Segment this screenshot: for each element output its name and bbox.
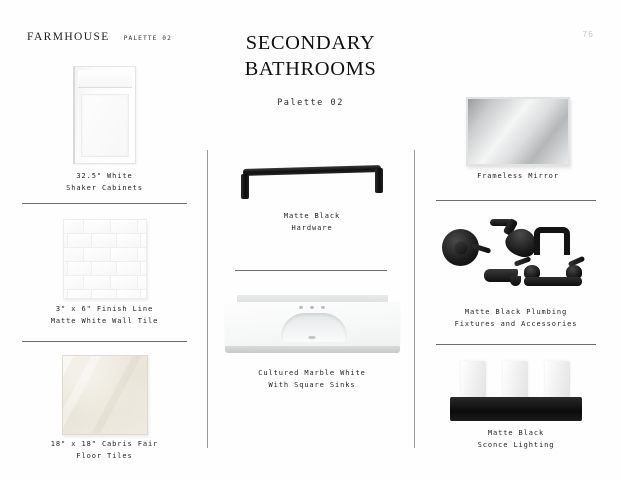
sconce-mounting-bar	[450, 397, 582, 421]
cabinet-drawer	[78, 70, 132, 88]
palette-board: FARMHOUSE PALETTE 02 76 SECONDARY BATHRO…	[0, 0, 621, 480]
wall-tile-swatch	[63, 215, 147, 303]
frameless-mirror-icon	[466, 97, 570, 166]
item-caption: Matte Black Plumbing Fixtures and Access…	[455, 306, 578, 331]
item-matte-white-wall-tile[interactable]: 3" x 6" Finish Line Matte White Wall Til…	[22, 215, 187, 328]
item-caption: Frameless Mirror	[477, 170, 559, 182]
brand-name: FARMHOUSE	[27, 31, 110, 43]
vanity-edge	[225, 346, 400, 353]
vanity-drain	[309, 336, 316, 339]
pull-post-right	[375, 168, 383, 193]
tub-spout-icon	[484, 269, 518, 282]
plumbing-fixtures-icon	[436, 209, 596, 305]
title-line-1: SECONDARY	[191, 31, 431, 57]
item-matte-black-hardware[interactable]: Matte Black Hardware	[222, 152, 402, 235]
faucet-holes	[299, 306, 325, 309]
faucet-base	[524, 277, 582, 286]
item-frameless-mirror[interactable]: Frameless Mirror	[438, 92, 598, 182]
page-title: SECONDARY BATHROOMS Palette 02	[191, 31, 431, 108]
pull-post-left	[241, 174, 249, 199]
pull-bar	[243, 165, 381, 176]
item-caption: 3" x 6" Finish Line Matte White Wall Til…	[51, 303, 158, 328]
cabinet-swatch	[73, 60, 136, 170]
item-cultured-marble-vanity[interactable]: Cultured Marble White With Square Sinks	[222, 285, 402, 392]
floor-tile-swatch	[62, 352, 148, 438]
item-caption: Matte Black Hardware	[284, 210, 340, 235]
item-caption: 18" x 18" Cabris Fair Floor Tiles	[51, 438, 158, 463]
divider-left-2	[22, 341, 187, 342]
divider-right-2	[436, 344, 596, 345]
page-number: 76	[582, 30, 594, 39]
divider-left-1	[22, 203, 187, 204]
item-caption: Matte Black Sconce Lighting	[478, 427, 555, 452]
palette-subtitle: Palette 02	[191, 98, 431, 108]
mirror-swatch	[466, 92, 570, 170]
item-caption: 32.5" White Shaker Cabinets	[66, 170, 143, 195]
column-divider-right	[414, 150, 415, 448]
sconce-swatch	[446, 355, 586, 427]
cabinet-door	[81, 94, 129, 157]
floor-tile-icon	[62, 355, 148, 435]
sconce-shade-2	[503, 361, 528, 401]
subway-tile-icon	[63, 219, 147, 299]
brand-header: FARMHOUSE PALETTE 02	[27, 31, 172, 43]
hardware-swatch	[237, 152, 387, 210]
divider-right-1	[436, 200, 596, 201]
brand-palette-tag: PALETTE 02	[124, 35, 172, 42]
sconce-shade-3	[545, 361, 570, 401]
plumbing-swatch	[436, 208, 596, 306]
shaker-cabinet-icon	[73, 66, 136, 164]
item-white-shaker-cabinets[interactable]: 32.5" White Shaker Cabinets	[22, 60, 187, 195]
item-matte-black-plumbing[interactable]: Matte Black Plumbing Fixtures and Access…	[436, 208, 596, 331]
faucet-spout-icon	[534, 227, 570, 255]
title-line-2: BATHROOMS	[191, 57, 431, 83]
divider-center-1	[235, 270, 387, 271]
vanity-swatch	[225, 285, 400, 367]
item-matte-black-sconce-lighting[interactable]: Matte Black Sconce Lighting	[436, 355, 596, 452]
sconce-shade-1	[461, 361, 486, 401]
vanity-top-icon	[225, 289, 400, 364]
bar-pull-handle-icon	[237, 161, 387, 201]
column-divider-left	[207, 150, 208, 448]
sconce-light-bar-icon	[446, 357, 586, 425]
item-caption: Cultured Marble White With Square Sinks	[258, 367, 365, 392]
item-cabris-fair-floor-tiles[interactable]: 18" x 18" Cabris Fair Floor Tiles	[22, 352, 187, 463]
